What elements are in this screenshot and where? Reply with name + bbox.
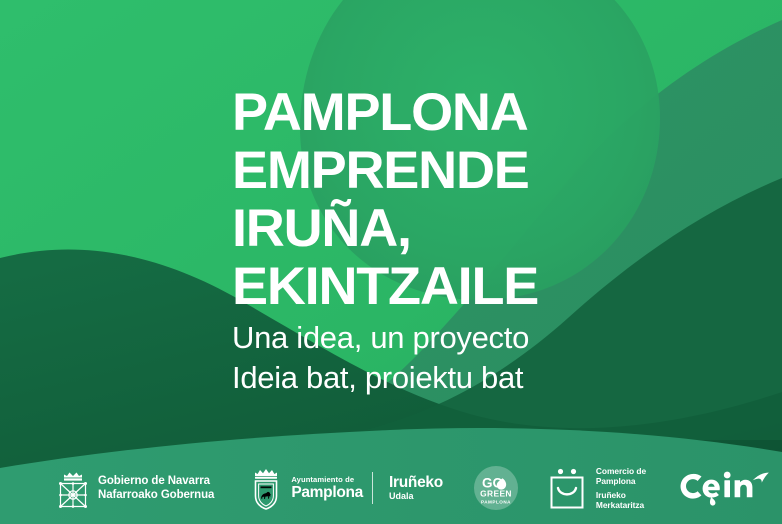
ayuntamiento-wordmark-eu: Iruñeko Udala — [389, 475, 443, 501]
subheadline-block: Una idea, un proyecto Ideia bat, proiekt… — [232, 318, 652, 398]
navarra-label-eu: Nafarroako Gobernua — [98, 488, 214, 502]
pamplona-coat-of-arms-shield — [248, 465, 284, 511]
ayuntamiento-label-iruneko: Iruñeko — [389, 475, 443, 491]
navarra-label-es: Gobierno de Navarra — [98, 474, 214, 488]
comercio-wordmark: Comercio de Pamplona Iruñeko Merkataritz… — [596, 466, 646, 511]
go-green-text-city: PAMPLONA — [481, 499, 511, 504]
footer-logo-bar: Gobierno de Navarra Nafarroako Gobernua — [0, 452, 782, 524]
comercio-label-line1: Comercio de — [596, 466, 646, 476]
poster-canvas: PAMPLONA EMPRENDE IRUÑA, EKINTZAILE Una … — [0, 0, 782, 524]
logo-cein[interactable] — [678, 466, 774, 510]
ayuntamiento-wordmark-es: Ayuntamiento de Pamplona — [291, 476, 363, 500]
go-green-text-green: GREEN — [480, 489, 512, 499]
cein-wordmark-logo — [678, 466, 774, 510]
go-green-circle-badge: GO GREEN PAMPLONA — [473, 465, 519, 511]
headline-line-iruna: IRUÑA, — [232, 202, 660, 255]
logo-go-green-pamplona[interactable]: GO GREEN PAMPLONA — [473, 465, 519, 511]
logo-gobierno-navarra[interactable]: Gobierno de Navarra Nafarroako Gobernua — [56, 468, 214, 508]
shopping-bag-smile-icon — [547, 465, 587, 511]
ayuntamiento-label-udala: Udala — [389, 492, 443, 501]
ayuntamiento-divider — [372, 472, 373, 504]
headline-block: PAMPLONA EMPRENDE IRUÑA, EKINTZAILE — [232, 86, 652, 313]
headline-line-ekintzaile: EKINTZAILE — [232, 260, 660, 313]
comercio-label-line3: Iruñeko — [596, 490, 646, 500]
headline-line-pamplona: PAMPLONA — [232, 86, 660, 139]
logo-ayuntamiento-pamplona[interactable]: Ayuntamiento de Pamplona Iruñeko Udala — [248, 465, 443, 511]
logo-comercio-pamplona[interactable]: Comercio de Pamplona Iruñeko Merkataritz… — [547, 465, 646, 511]
navarra-wordmark: Gobierno de Navarra Nafarroako Gobernua — [98, 474, 214, 502]
ayuntamiento-label-pamplona: Pamplona — [291, 485, 363, 501]
subheadline-line-eu: Ideia bat, proiektu bat — [232, 358, 652, 398]
ayuntamiento-label-small: Ayuntamiento de — [291, 476, 363, 484]
subheadline-line-es: Una idea, un proyecto — [232, 318, 652, 358]
comercio-label-line4: Merkataritza — [596, 500, 646, 510]
comercio-label-line2: Pamplona — [596, 476, 646, 486]
navarra-crown-chains-emblem — [56, 468, 90, 508]
headline-line-emprende: EMPRENDE — [232, 144, 660, 197]
